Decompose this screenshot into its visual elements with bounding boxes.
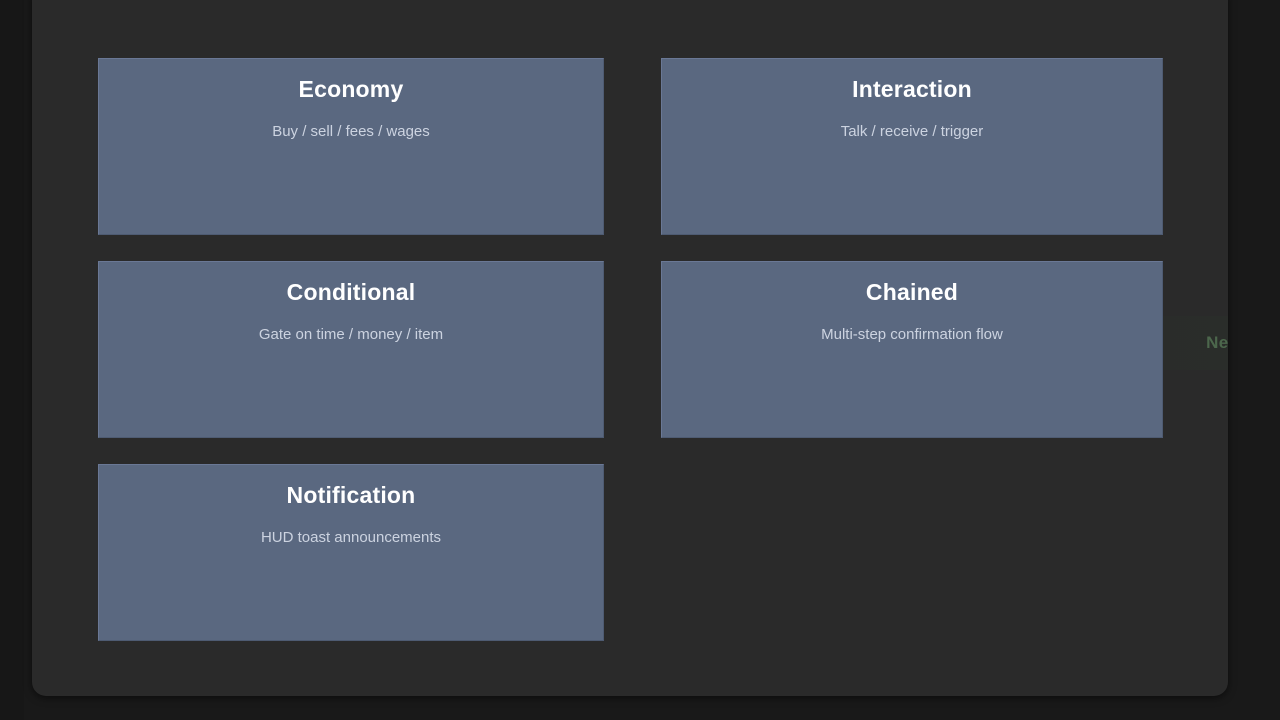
template-card-grid: Economy Buy / sell / fees / wages Intera…	[98, 58, 1163, 641]
template-card-chained[interactable]: Chained Multi-step confirmation flow	[661, 261, 1163, 438]
template-card-conditional[interactable]: Conditional Gate on time / money / item	[98, 261, 604, 438]
card-subtitle: Buy / sell / fees / wages	[99, 122, 603, 142]
card-subtitle: Talk / receive / trigger	[662, 122, 1162, 142]
card-title: Conditional	[99, 278, 603, 306]
template-card-empty-slot	[661, 464, 1163, 641]
card-title: Economy	[99, 75, 603, 103]
card-title: Notification	[99, 481, 603, 509]
edge-badge: New	[1206, 333, 1228, 353]
card-subtitle: Multi-step confirmation flow	[662, 325, 1162, 345]
template-card-interaction[interactable]: Interaction Talk / receive / trigger	[661, 58, 1163, 235]
card-title: Interaction	[662, 75, 1162, 103]
template-card-notification[interactable]: Notification HUD toast announcements	[98, 464, 604, 641]
card-subtitle: HUD toast announcements	[99, 528, 603, 548]
template-card-economy[interactable]: Economy Buy / sell / fees / wages	[98, 58, 604, 235]
content-panel: New Economy Buy / sell / fees / wages In…	[32, 0, 1228, 696]
backdrop-seam	[0, 0, 24, 720]
card-title: Chained	[662, 278, 1162, 306]
card-subtitle: Gate on time / money / item	[99, 325, 603, 345]
app-root: New Economy Buy / sell / fees / wages In…	[0, 0, 1280, 720]
